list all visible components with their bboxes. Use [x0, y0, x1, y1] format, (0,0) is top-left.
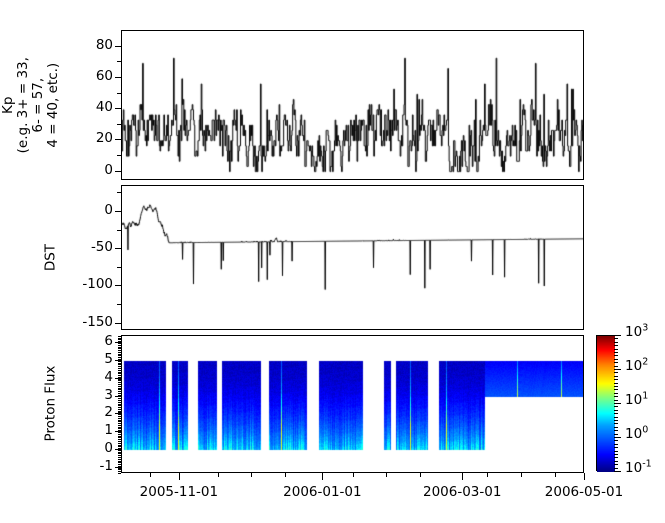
axis-tick — [118, 377, 121, 378]
axis-tick — [118, 350, 121, 351]
axis-tick — [118, 343, 121, 344]
axis-tick — [614, 406, 618, 407]
axis-tick — [118, 412, 121, 413]
axis-tick — [555, 473, 556, 477]
axis-tick — [118, 391, 121, 392]
axis-tick — [118, 464, 121, 465]
axis-tick — [118, 402, 121, 403]
axis-tick — [118, 366, 121, 367]
axis-tick — [614, 457, 618, 458]
kp-axis-title-line: (e.g. 3+ = 33, — [16, 40, 31, 170]
axis-tick — [118, 395, 121, 396]
y-tick-label: 20 — [53, 132, 113, 146]
colorbar-tick-label: 10-1 — [625, 462, 652, 476]
axis-tick — [614, 410, 618, 411]
axis-tick — [614, 461, 618, 462]
axis-tick — [118, 373, 121, 374]
axis-tick — [118, 450, 121, 451]
kp-axis-title-line: 6- = 57, — [31, 40, 46, 170]
axis-tick — [614, 444, 618, 445]
axis-tick — [118, 339, 121, 340]
colorbar-tick-label: 101 — [625, 394, 648, 408]
axis-tick — [118, 457, 121, 458]
axis-tick — [118, 357, 121, 358]
axis-tick — [118, 370, 121, 371]
axis-tick — [614, 359, 618, 360]
colorbar — [596, 335, 614, 471]
axis-tick — [118, 462, 121, 463]
axis-tick — [118, 455, 121, 456]
y-tick-label: -50 — [53, 241, 113, 255]
axis-tick — [614, 471, 621, 472]
axis-tick — [353, 473, 354, 477]
axis-tick — [118, 416, 121, 417]
axis-tick — [118, 347, 121, 348]
axis-tick — [118, 420, 121, 421]
axis-tick — [420, 473, 421, 477]
axis-tick — [614, 447, 618, 448]
axis-tick — [115, 139, 121, 140]
axis-tick — [115, 211, 121, 212]
axis-tick — [117, 93, 121, 94]
axis-tick — [462, 473, 463, 480]
axis-tick — [614, 400, 618, 401]
x-tick-label: 2006-03-01 — [412, 486, 512, 500]
axis-tick — [118, 388, 121, 389]
axis-tick — [118, 468, 121, 469]
axis-tick — [117, 61, 121, 62]
axis-tick — [118, 359, 121, 360]
axis-tick — [117, 230, 121, 231]
x-tick-label: 2006-01-01 — [272, 486, 372, 500]
axis-tick — [118, 336, 121, 337]
axis-tick — [118, 448, 121, 449]
proton-flux-axis-title: Proton Flux — [43, 344, 58, 464]
x-tick-label: 2005-11-01 — [129, 486, 229, 500]
axis-tick — [118, 375, 121, 376]
axis-tick — [118, 441, 121, 442]
axis-tick — [614, 430, 618, 431]
axis-tick — [118, 471, 121, 472]
axis-tick — [614, 427, 618, 428]
axis-tick — [118, 338, 121, 339]
axis-tick — [614, 389, 618, 390]
y-tick-label: -150 — [53, 316, 113, 330]
axis-tick — [115, 285, 121, 286]
axis-tick — [614, 413, 618, 414]
x-tick-label: 2006-05-01 — [534, 486, 634, 500]
axis-tick — [584, 473, 585, 480]
y-tick-label: 0 — [53, 204, 113, 218]
axis-tick — [118, 396, 121, 397]
axis-tick — [118, 436, 121, 437]
axis-tick — [118, 379, 121, 380]
axis-tick — [118, 418, 121, 419]
axis-tick — [118, 393, 121, 394]
axis-tick — [115, 248, 121, 249]
axis-tick — [118, 361, 121, 362]
proton-flux-panel — [121, 335, 584, 473]
axis-tick — [118, 409, 121, 410]
axis-tick — [118, 414, 121, 415]
y-tick-label: 6 — [53, 335, 113, 349]
axis-tick — [115, 46, 121, 47]
axis-tick — [614, 335, 621, 336]
axis-tick — [614, 420, 618, 421]
axis-tick — [614, 440, 618, 441]
axis-tick — [118, 459, 121, 460]
axis-tick — [614, 393, 618, 394]
colorbar-tick-label: 100 — [625, 428, 648, 442]
axis-tick — [614, 434, 618, 435]
axis-tick — [614, 464, 618, 465]
axis-tick — [118, 404, 121, 405]
axis-tick — [614, 376, 618, 377]
axis-tick — [118, 430, 121, 431]
figure-root: 020406080 Kp(e.g. 3+ = 33,6- = 57,4 = 40… — [0, 0, 665, 523]
axis-tick — [614, 362, 618, 363]
axis-tick — [614, 396, 618, 397]
axis-tick — [614, 345, 618, 346]
axis-tick — [118, 386, 121, 387]
axis-tick — [521, 473, 522, 477]
axis-tick — [386, 473, 387, 477]
axis-tick — [118, 352, 121, 353]
axis-tick — [118, 432, 121, 433]
axis-tick — [118, 348, 121, 349]
proton-flux-axis-title-line: Proton Flux — [43, 344, 58, 464]
axis-tick — [251, 473, 252, 477]
axis-tick — [614, 417, 618, 418]
axis-tick — [118, 445, 121, 446]
axis-tick — [150, 473, 151, 477]
axis-tick — [118, 446, 121, 447]
axis-tick — [614, 352, 618, 353]
kp-axis-title-line: Kp — [1, 40, 16, 170]
axis-tick — [118, 345, 121, 346]
y-tick-label: 80 — [53, 39, 113, 53]
kp-panel — [121, 30, 584, 180]
axis-tick — [118, 427, 121, 428]
kp-axis-title: Kp(e.g. 3+ = 33,6- = 57,4 = 40, etc.) — [1, 40, 61, 170]
axis-tick — [218, 473, 219, 477]
axis-tick — [115, 77, 121, 78]
colorbar-tick-label: 103 — [625, 326, 648, 340]
axis-tick — [115, 323, 121, 324]
axis-tick — [614, 342, 618, 343]
axis-tick — [322, 473, 323, 480]
axis-tick — [115, 171, 121, 172]
axis-tick — [117, 304, 121, 305]
axis-tick — [118, 389, 121, 390]
axis-tick — [118, 434, 121, 435]
axis-tick — [118, 380, 121, 381]
axis-tick — [614, 468, 618, 469]
axis-tick — [118, 439, 121, 440]
axis-tick — [118, 466, 121, 467]
dst-axis-title-line: DST — [43, 207, 58, 307]
y-tick-label: 1 — [53, 424, 113, 438]
axis-tick — [487, 473, 488, 477]
axis-tick — [118, 407, 121, 408]
axis-tick — [614, 369, 621, 370]
kp-axis-title-line: 4 = 40, etc.) — [46, 40, 61, 170]
axis-tick — [118, 461, 121, 462]
axis-tick — [285, 473, 286, 477]
axis-tick — [118, 473, 121, 474]
axis-tick — [118, 453, 121, 454]
axis-tick — [614, 423, 618, 424]
y-tick-label: 3 — [53, 389, 113, 403]
axis-tick — [118, 421, 121, 422]
axis-tick — [118, 443, 121, 444]
y-tick-label: -100 — [53, 278, 113, 292]
axis-tick — [118, 411, 121, 412]
axis-tick — [118, 405, 121, 406]
axis-tick — [118, 368, 121, 369]
axis-tick — [118, 384, 121, 385]
axis-tick — [118, 437, 121, 438]
dst-axis-title: DST — [43, 207, 58, 307]
colorbar-tick-label: 102 — [625, 360, 648, 374]
y-tick-label: 60 — [53, 70, 113, 84]
axis-tick — [614, 383, 618, 384]
y-tick-label: -1 — [53, 460, 113, 474]
axis-tick — [118, 425, 121, 426]
axis-tick — [179, 473, 180, 480]
axis-tick — [118, 400, 121, 401]
axis-tick — [614, 403, 621, 404]
y-tick-label: 2 — [53, 406, 113, 420]
axis-tick — [117, 192, 121, 193]
axis-tick — [118, 354, 121, 355]
axis-tick — [118, 428, 121, 429]
axis-tick — [118, 452, 121, 453]
axis-tick — [115, 108, 121, 109]
axis-tick — [117, 155, 121, 156]
y-tick-label: 5 — [53, 353, 113, 367]
axis-tick — [118, 363, 121, 364]
axis-tick — [614, 349, 618, 350]
dst-panel — [121, 185, 584, 330]
axis-tick — [118, 372, 121, 373]
axis-tick — [614, 355, 618, 356]
axis-tick — [614, 372, 618, 373]
axis-tick — [118, 364, 121, 365]
y-tick-label: 0 — [53, 164, 113, 178]
axis-tick — [614, 454, 618, 455]
axis-tick — [614, 379, 618, 380]
axis-tick — [118, 423, 121, 424]
y-tick-label: 4 — [53, 371, 113, 385]
axis-tick — [614, 437, 621, 438]
y-tick-label: 40 — [53, 101, 113, 115]
axis-tick — [118, 469, 121, 470]
axis-tick — [118, 341, 121, 342]
axis-tick — [118, 355, 121, 356]
y-tick-label: 0 — [53, 442, 113, 456]
axis-tick — [614, 451, 618, 452]
axis-tick — [117, 267, 121, 268]
axis-tick — [118, 382, 121, 383]
axis-tick — [614, 366, 618, 367]
axis-tick — [614, 386, 618, 387]
axis-tick — [614, 338, 618, 339]
axis-tick — [118, 398, 121, 399]
axis-tick — [117, 124, 121, 125]
